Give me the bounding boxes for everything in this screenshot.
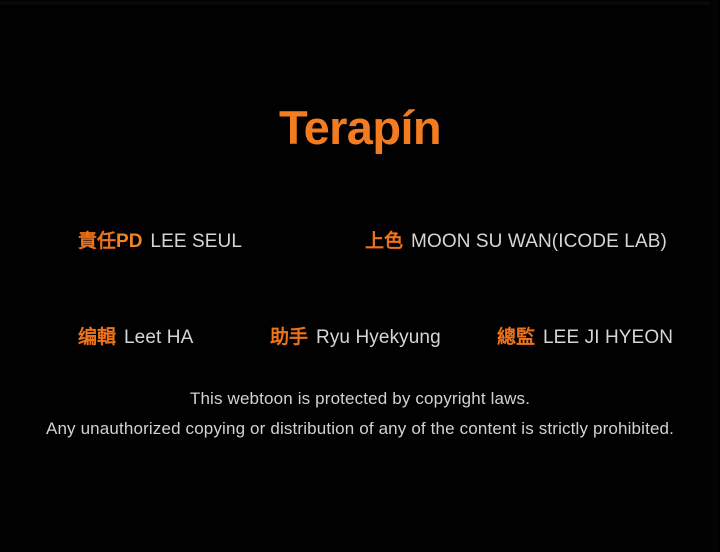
credits-page: Terapín 責任PD LEE SEUL 上色 MOON SU WAN(ICO… bbox=[0, 0, 720, 552]
credit-person-name: LEE JI HYEON bbox=[543, 328, 673, 347]
credit-role-latin: PD bbox=[116, 231, 142, 252]
title-container: Terapín bbox=[0, 103, 720, 152]
credit-role-label: 助手 bbox=[270, 328, 308, 347]
credit-role-cjk: 總監 bbox=[497, 327, 535, 348]
credits-list: 責任PD LEE SEUL 上色 MOON SU WAN(ICODE LAB) … bbox=[0, 224, 720, 320]
credit-person-name: Ryu Hyekyung bbox=[316, 328, 441, 347]
credit-role-label: 總監 bbox=[497, 328, 535, 347]
credit-person-name: Leet HA bbox=[124, 328, 193, 347]
credit-entry-assistant: 助手 Ryu Hyekyung bbox=[270, 328, 441, 347]
credit-role-label: 上色 bbox=[365, 232, 403, 251]
credit-person-name: LEE SEUL bbox=[150, 232, 242, 251]
credit-role-label: 编輯 bbox=[78, 328, 116, 347]
copyright-line-2: Any unauthorized copying or distribution… bbox=[0, 414, 720, 444]
credit-entry-editor: 编輯 Leet HA bbox=[78, 328, 193, 347]
credits-row: 責任PD LEE SEUL 上色 MOON SU WAN(ICODE LAB) bbox=[0, 224, 720, 272]
credit-role-label: 責任PD bbox=[78, 232, 142, 251]
credit-entry-director: 總監 LEE JI HYEON bbox=[497, 328, 673, 347]
copyright-line-1: This webtoon is protected by copyright l… bbox=[0, 384, 720, 414]
copyright-notice: This webtoon is protected by copyright l… bbox=[0, 384, 720, 444]
series-title: Terapín bbox=[279, 103, 441, 152]
credits-row: 编輯 Leet HA 助手 Ryu Hyekyung 總監 LEE JI HYE… bbox=[0, 272, 720, 320]
credit-role-cjk: 責任 bbox=[78, 231, 116, 252]
credit-role-cjk: 编輯 bbox=[78, 327, 116, 348]
top-edge-seam bbox=[0, 0, 720, 6]
credit-role-cjk: 助手 bbox=[270, 327, 308, 348]
credit-role-cjk: 上色 bbox=[365, 231, 403, 252]
credit-person-name: MOON SU WAN(ICODE LAB) bbox=[411, 232, 667, 251]
credit-entry-color: 上色 MOON SU WAN(ICODE LAB) bbox=[365, 232, 667, 251]
credit-entry-responsible-pd: 責任PD LEE SEUL bbox=[78, 232, 242, 251]
